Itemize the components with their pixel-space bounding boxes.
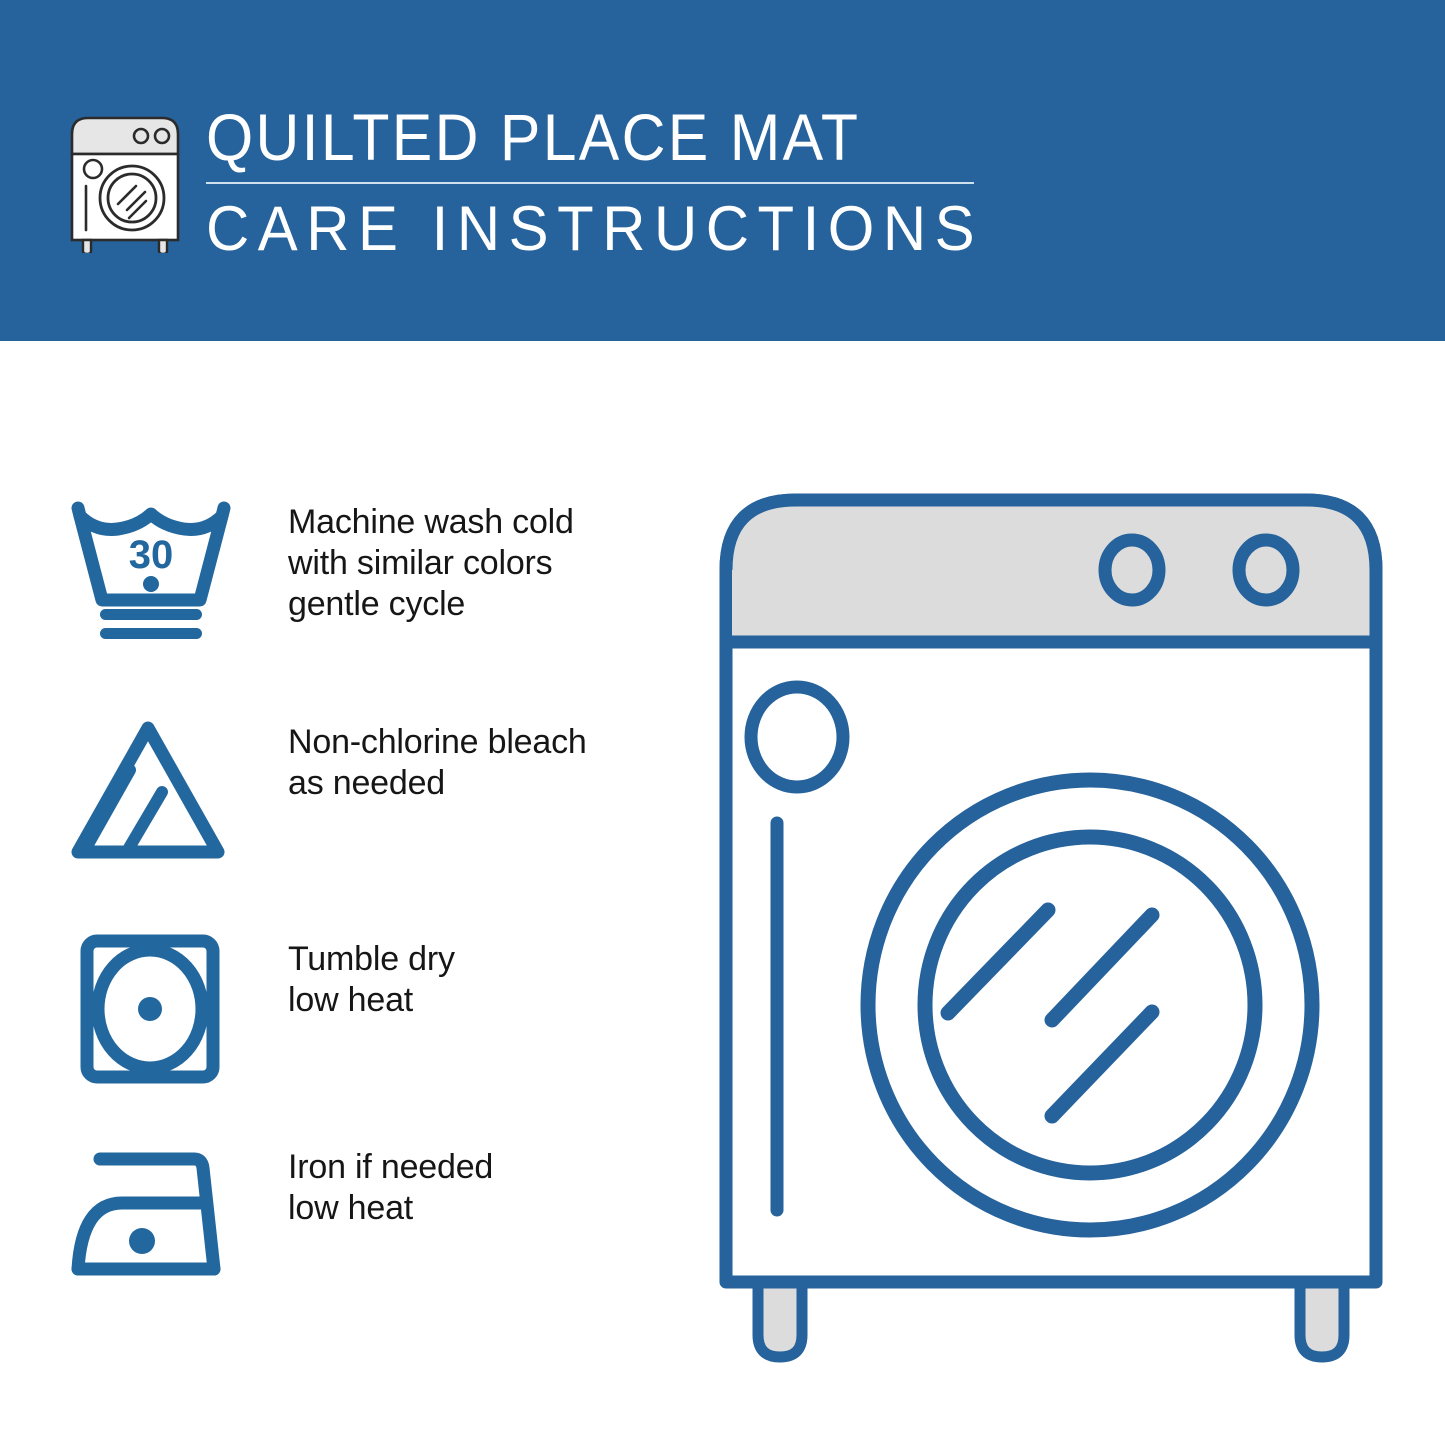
tumble-dry-low-heat-icon [66,933,236,1088]
wash-tub-30-gentle-icon: 30 [66,496,236,651]
care-text-line: Tumble dry [288,939,688,980]
washing-machine-icon [66,108,184,253]
machine-leg [1300,1278,1344,1357]
iron-low-heat-icon [66,1141,236,1296]
washing-machine-illustration [700,460,1430,1370]
control-panel [732,506,1370,642]
care-instruction-text: Non-chlorine bleach as needed [288,722,688,804]
care-text-line: with similar colors [288,543,688,584]
care-text-line: Machine wash cold [288,502,688,543]
machine-leg [758,1278,802,1357]
care-text-line: gentle cycle [288,584,688,625]
header-band: QUILTED PLACE MAT CARE INSTRUCTIONS [0,0,1445,341]
care-text-line: Non-chlorine bleach [288,722,688,763]
triangle-non-chlorine-bleach-icon [66,716,236,871]
page-subtitle: CARE INSTRUCTIONS [206,194,966,264]
care-instructions-page: QUILTED PLACE MAT CARE INSTRUCTIONS 30 [0,0,1445,1445]
care-instruction-text: Machine wash cold with similar colors ge… [288,502,688,625]
header-text-block: QUILTED PLACE MAT CARE INSTRUCTIONS [206,100,1006,264]
care-text-line: Iron if needed [288,1147,688,1188]
care-text-line: as needed [288,763,688,804]
care-instruction-list: 30 Machine wash cold with similar colors… [0,341,700,1445]
care-text-line: low heat [288,1188,688,1229]
care-instruction-text: Iron if needed low heat [288,1147,688,1229]
care-text-line: low heat [288,980,688,1021]
care-instruction-text: Tumble dry low heat [288,939,688,1021]
title-divider [206,182,974,184]
page-title: QUILTED PLACE MAT [206,100,942,174]
wash-temperature-label: 30 [129,533,174,577]
